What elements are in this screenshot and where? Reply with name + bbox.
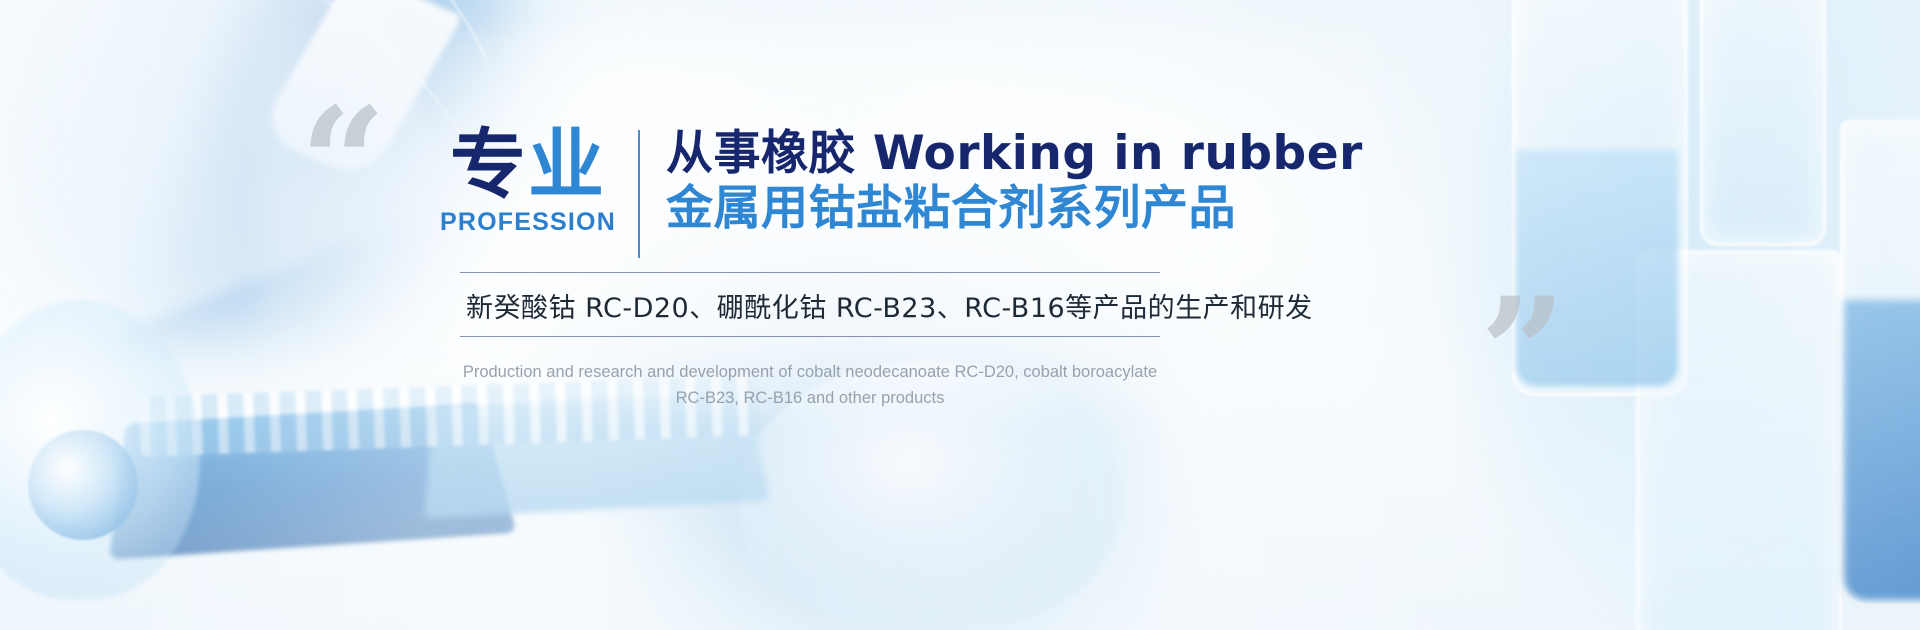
divider-bottom [460,336,1160,337]
headline-primary: 从事橡胶 Working in rubber [666,128,1363,181]
english-description: Production and research and development … [460,359,1160,412]
profession-lockup-cjk: 专业 [440,128,616,202]
english-description-line-1: Production and research and development … [460,359,1160,385]
vertical-divider [638,130,640,258]
product-summary-line: 新癸酸钴 RC-D20、硼酰化钴 RC-B23、RC-B16等产品的生产和研发 [440,273,1500,336]
hero-banner: “ ” 专业 PROFESSION 从事橡胶 Working in rubber… [0,0,1920,630]
headline-secondary: 金属用钴盐粘合剂系列产品 [666,181,1363,236]
headline-group: 从事橡胶 Working in rubber 金属用钴盐粘合剂系列产品 [666,126,1363,236]
open-quote-icon: “ [300,88,386,238]
banner-headline-row: 专业 PROFESSION 从事橡胶 Working in rubber 金属用… [440,126,1500,258]
banner-content: 专业 PROFESSION 从事橡胶 Working in rubber 金属用… [440,126,1500,412]
profession-lockup-english: PROFESSION [440,208,616,237]
profession-lockup-char-ye: 业 [528,120,606,209]
profession-lockup: 专业 PROFESSION [440,126,616,237]
divider-top [460,272,1160,273]
profession-lockup-char-zhuan: 专 [450,120,528,209]
english-description-line-2: RC-B23, RC-B16 and other products [460,385,1160,411]
